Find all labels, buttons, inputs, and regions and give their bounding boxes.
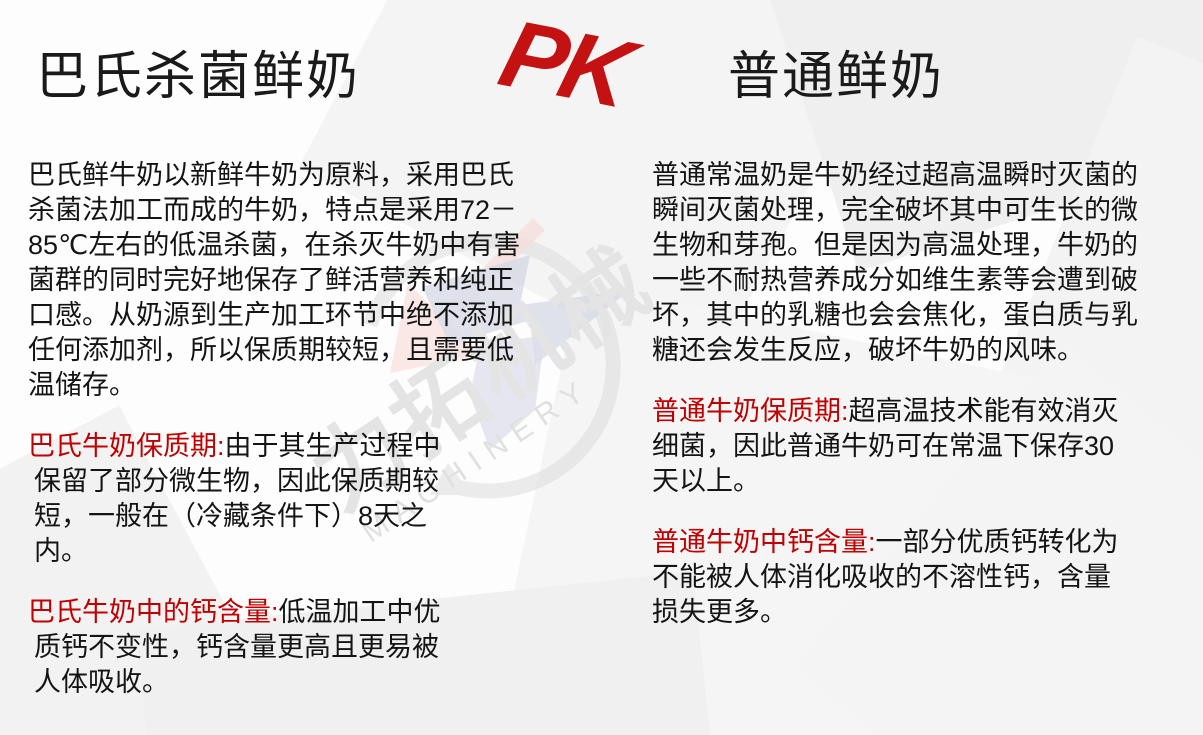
pk-versus-badge: PK <box>491 6 639 123</box>
comparison-columns: 巴氏鲜牛奶以新鲜牛奶为原料，采用巴氏杀菌法加工而成的牛奶，特点是采用72－85℃… <box>0 158 1203 700</box>
left-section-shelf-life: 巴氏牛奶保质期:由于其生产过程中保留了部分微生物，因此保质期较短，一般在（冷藏条… <box>28 429 464 569</box>
spacer <box>652 368 1195 394</box>
right-column: 普通常温奶是牛奶经过超高温瞬时灭菌的瞬间灭菌处理，完全破坏其中可生长的微生物和芽… <box>640 158 1203 700</box>
right-product-title: 普通鲜奶 <box>728 34 944 109</box>
left-column: 巴氏鲜牛奶以新鲜牛奶为原料，采用巴氏杀菌法加工而成的牛奶，特点是采用72－85℃… <box>0 158 640 700</box>
left-intro-paragraph: 巴氏鲜牛奶以新鲜牛奶为原料，采用巴氏杀菌法加工而成的牛奶，特点是采用72－85℃… <box>28 158 533 403</box>
spacer <box>28 403 590 429</box>
left-section-calcium: 巴氏牛奶中的钙含量:低温加工中优质钙不变性，钙含量更高且更易被人体吸收。 <box>28 595 464 700</box>
right-section-calcium-label: 普通牛奶中钙含量: <box>652 527 876 557</box>
right-intro-paragraph: 普通常温奶是牛奶经过超高温瞬时灭菌的瞬间灭菌处理，完全破坏其中可生长的微生物和芽… <box>652 158 1152 368</box>
left-product-title: 巴氏杀菌鲜奶 <box>36 34 360 109</box>
left-section-calcium-label: 巴氏牛奶中的钙含量: <box>28 597 279 627</box>
right-section-shelf-life: 普通牛奶保质期:超高温技术能有效消灭细菌，因此普通牛奶可在常温下保存30天以上。 <box>652 394 1122 499</box>
poster-header: 巴氏杀菌鲜奶 PK 普通鲜奶 <box>0 0 1203 150</box>
right-section-shelf-life-label: 普通牛奶保质期: <box>652 396 849 426</box>
right-section-calcium: 普通牛奶中钙含量:一部分优质钙转化为不能被人体消化吸收的不溶性钙，含量损失更多。 <box>652 525 1122 630</box>
comparison-poster: 力拓机械 MACHINERY 巴氏杀菌鲜奶 PK 普通鲜奶 巴氏鲜牛奶以新鲜牛奶… <box>0 0 1203 735</box>
left-section-shelf-life-label: 巴氏牛奶保质期: <box>28 431 225 461</box>
